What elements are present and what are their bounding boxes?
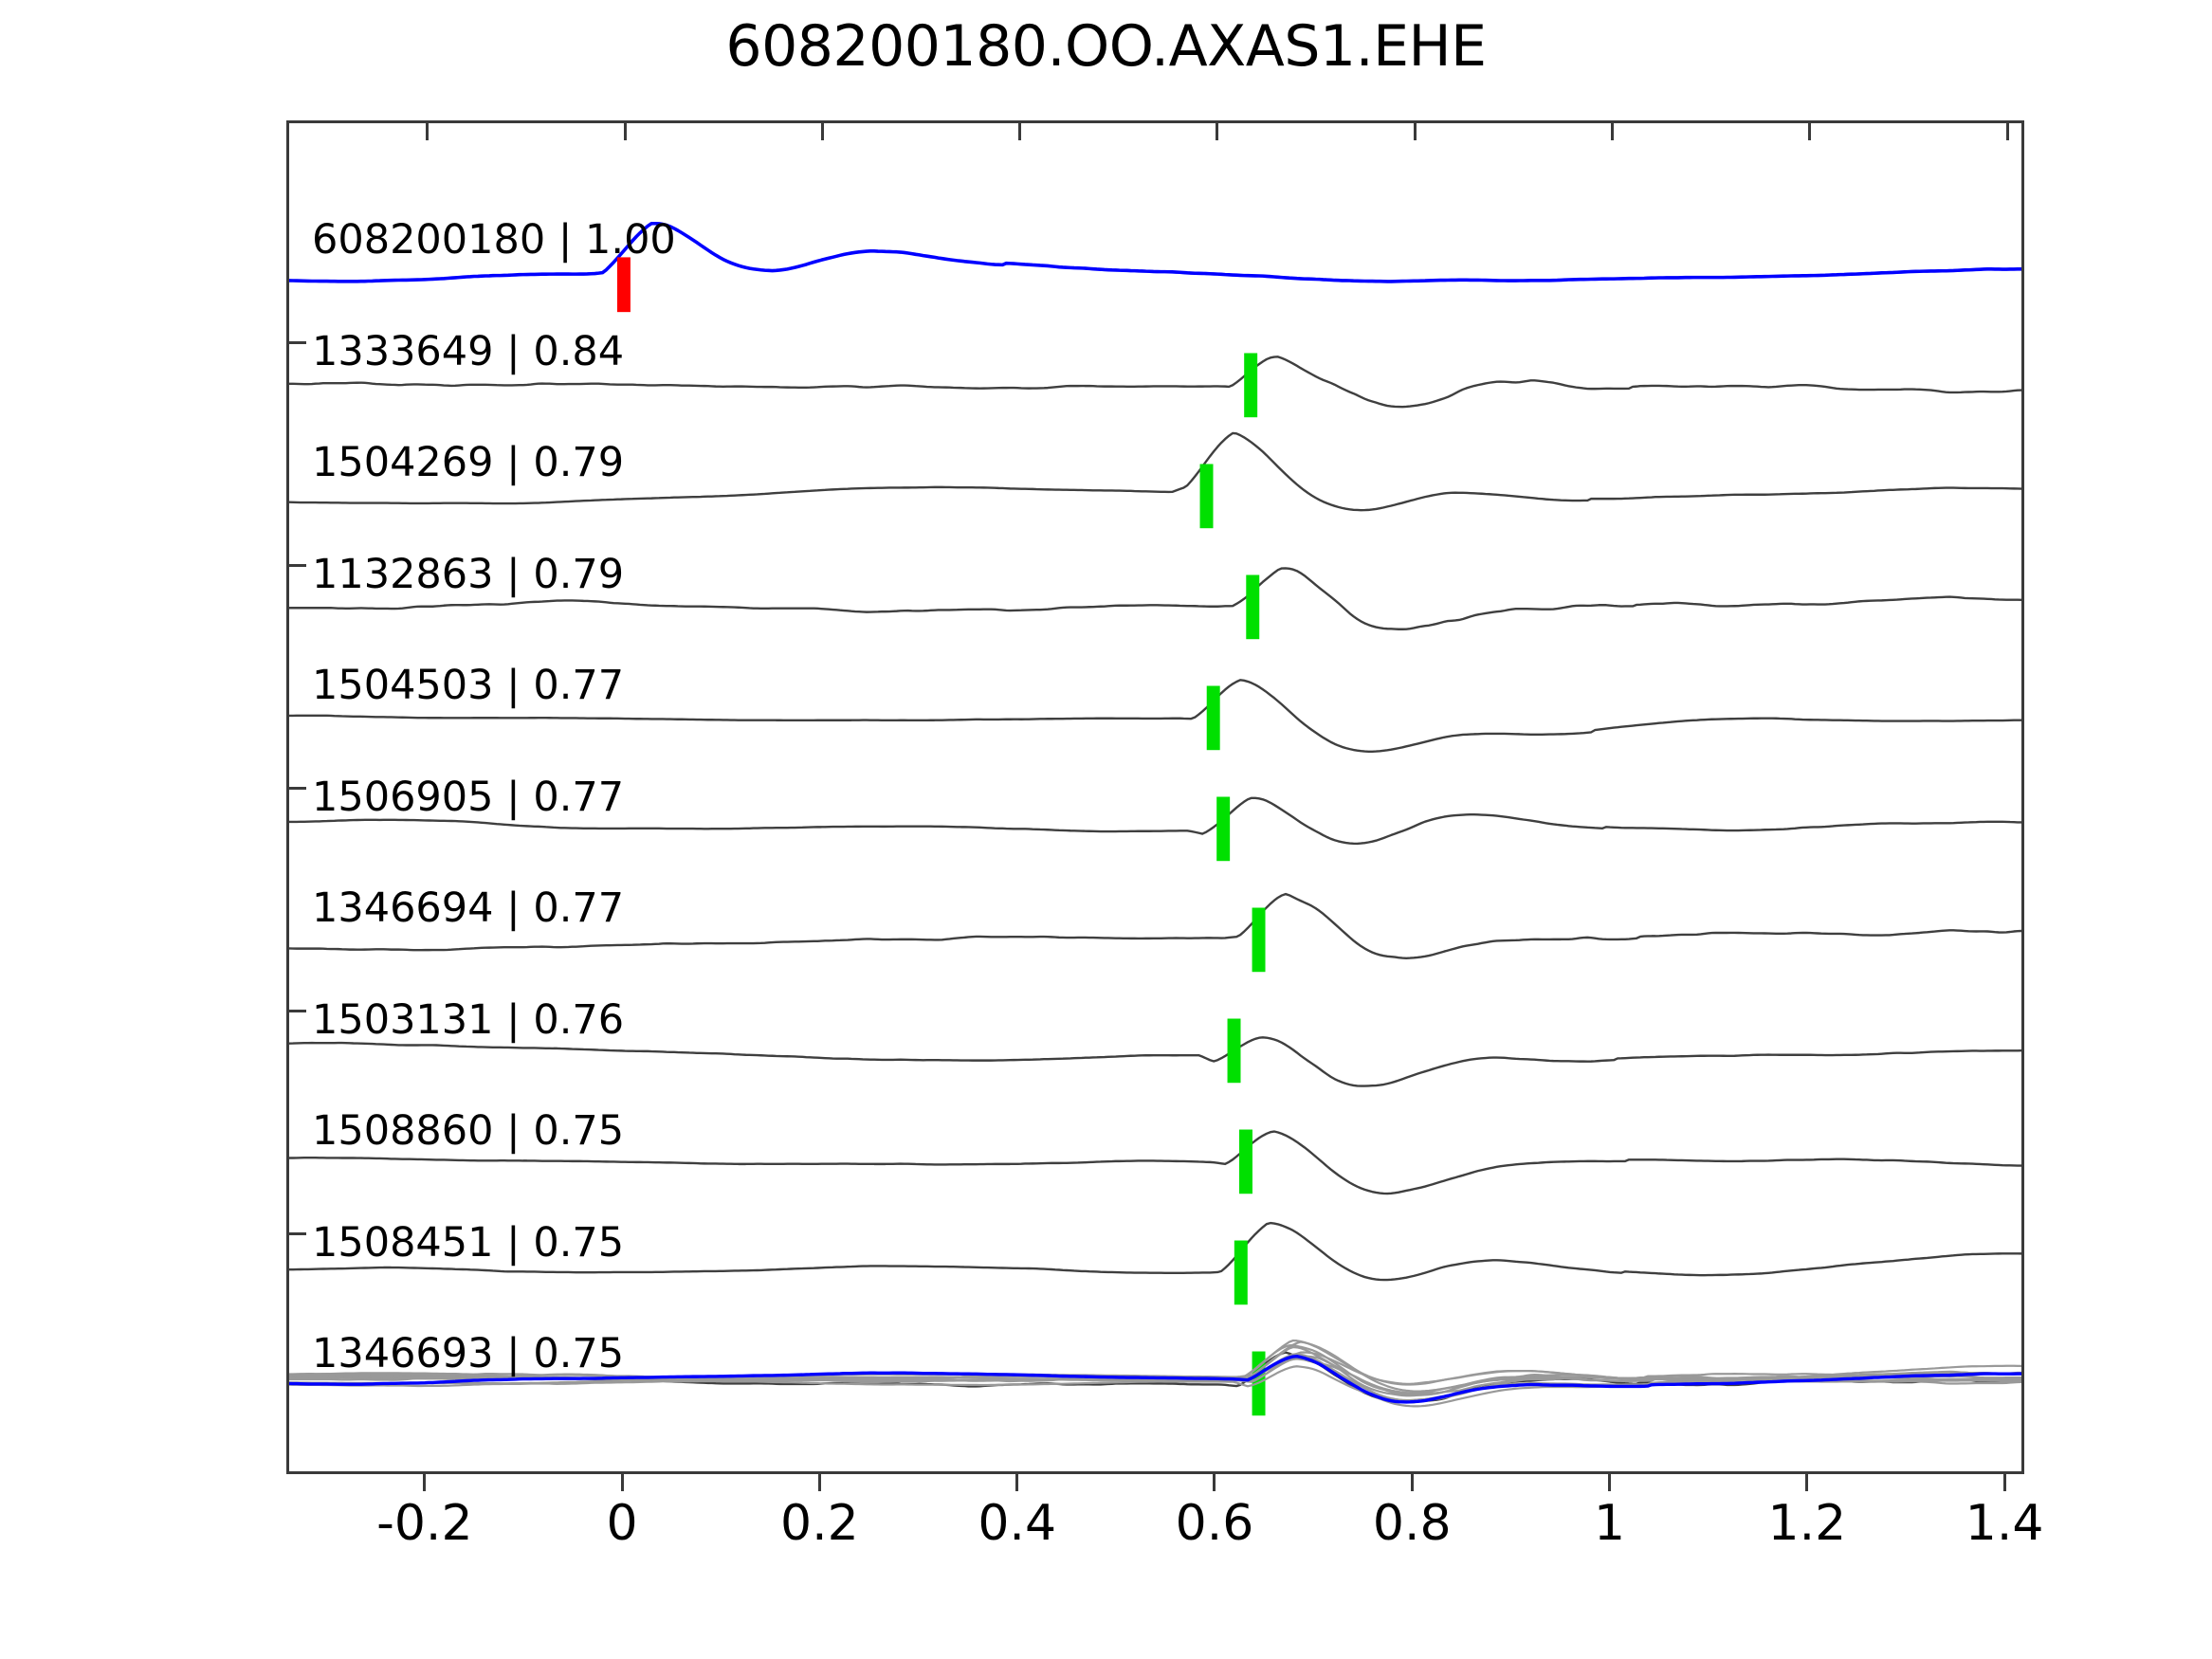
plot-axes: 608200180 | 1.001333649 | 0.841504269 | …	[286, 120, 2024, 1474]
x-tick-mark-top	[1216, 123, 1218, 140]
x-tick-mark-top	[1808, 123, 1811, 140]
x-tick-label: -0.2	[376, 1495, 472, 1552]
y-tick	[289, 1232, 306, 1235]
page-title: 608200180.OO.AXAS1.EHE	[0, 13, 2212, 80]
trace-label: 1503131 | 0.76	[312, 996, 624, 1044]
x-tick-mark	[1608, 1474, 1611, 1491]
trace-label: 608200180 | 1.00	[312, 216, 676, 264]
match-pick-marker	[1200, 464, 1214, 528]
x-tick-mark	[1411, 1474, 1414, 1491]
x-tick-mark-top	[1018, 123, 1021, 140]
x-tick-mark-top	[624, 123, 627, 140]
x-tick-mark-top	[1611, 123, 1614, 140]
x-tick-mark	[423, 1474, 426, 1491]
x-tick-mark	[818, 1474, 821, 1491]
waveform-figure: 608200180.OO.AXAS1.EHE 608200180 | 1.001…	[0, 0, 2212, 1659]
trace-label: 1506905 | 0.77	[312, 774, 624, 821]
x-tick-label: 0	[607, 1495, 638, 1552]
x-tick-mark	[621, 1474, 624, 1491]
y-tick	[289, 564, 306, 567]
x-tick-mark-top	[2006, 123, 2009, 140]
y-tick	[289, 1010, 306, 1012]
trace-label: 1508860 | 0.75	[312, 1107, 624, 1155]
trace-label: 1508451 | 0.75	[312, 1219, 624, 1267]
x-tick-label: 0.2	[780, 1495, 859, 1552]
trace-label: 1504503 | 0.77	[312, 662, 624, 709]
match-pick-marker	[1246, 574, 1259, 639]
match-pick-marker	[1252, 908, 1266, 973]
template-pick-marker	[617, 257, 631, 312]
trace-label: 1132863 | 0.79	[312, 551, 624, 598]
x-tick-mark-top	[426, 123, 429, 140]
y-tick	[289, 341, 306, 344]
x-tick-mark-top	[821, 123, 824, 140]
trace-label: 1504269 | 0.79	[312, 439, 624, 486]
match-pick-marker	[1216, 797, 1230, 862]
match-pick-marker	[1234, 1241, 1248, 1305]
match-pick-marker	[1239, 1130, 1252, 1194]
trace-label: 1346694 | 0.77	[312, 884, 624, 932]
match-pick-marker	[1228, 1019, 1241, 1084]
y-tick	[289, 787, 306, 790]
x-tick-label: 1.4	[1965, 1495, 2044, 1552]
trace-label: 1346693 | 0.75	[312, 1330, 624, 1377]
x-tick-mark	[1805, 1474, 1808, 1491]
match-pick-marker	[1207, 685, 1220, 750]
x-axis: -0.200.20.40.60.811.21.4	[286, 1474, 2024, 1569]
match-waveform	[289, 1037, 2021, 1085]
x-tick-mark	[2003, 1474, 2006, 1491]
x-tick-mark	[1015, 1474, 1018, 1491]
x-tick-mark-top	[1414, 123, 1417, 140]
trace-label: 1333649 | 0.84	[312, 328, 624, 375]
x-tick-mark	[1213, 1474, 1216, 1491]
x-tick-label: 1	[1594, 1495, 1625, 1552]
x-tick-label: 0.4	[978, 1495, 1056, 1552]
x-tick-label: 0.8	[1373, 1495, 1452, 1552]
match-pick-marker	[1244, 353, 1257, 417]
x-tick-label: 1.2	[1768, 1495, 1847, 1552]
x-tick-label: 0.6	[1176, 1495, 1254, 1552]
